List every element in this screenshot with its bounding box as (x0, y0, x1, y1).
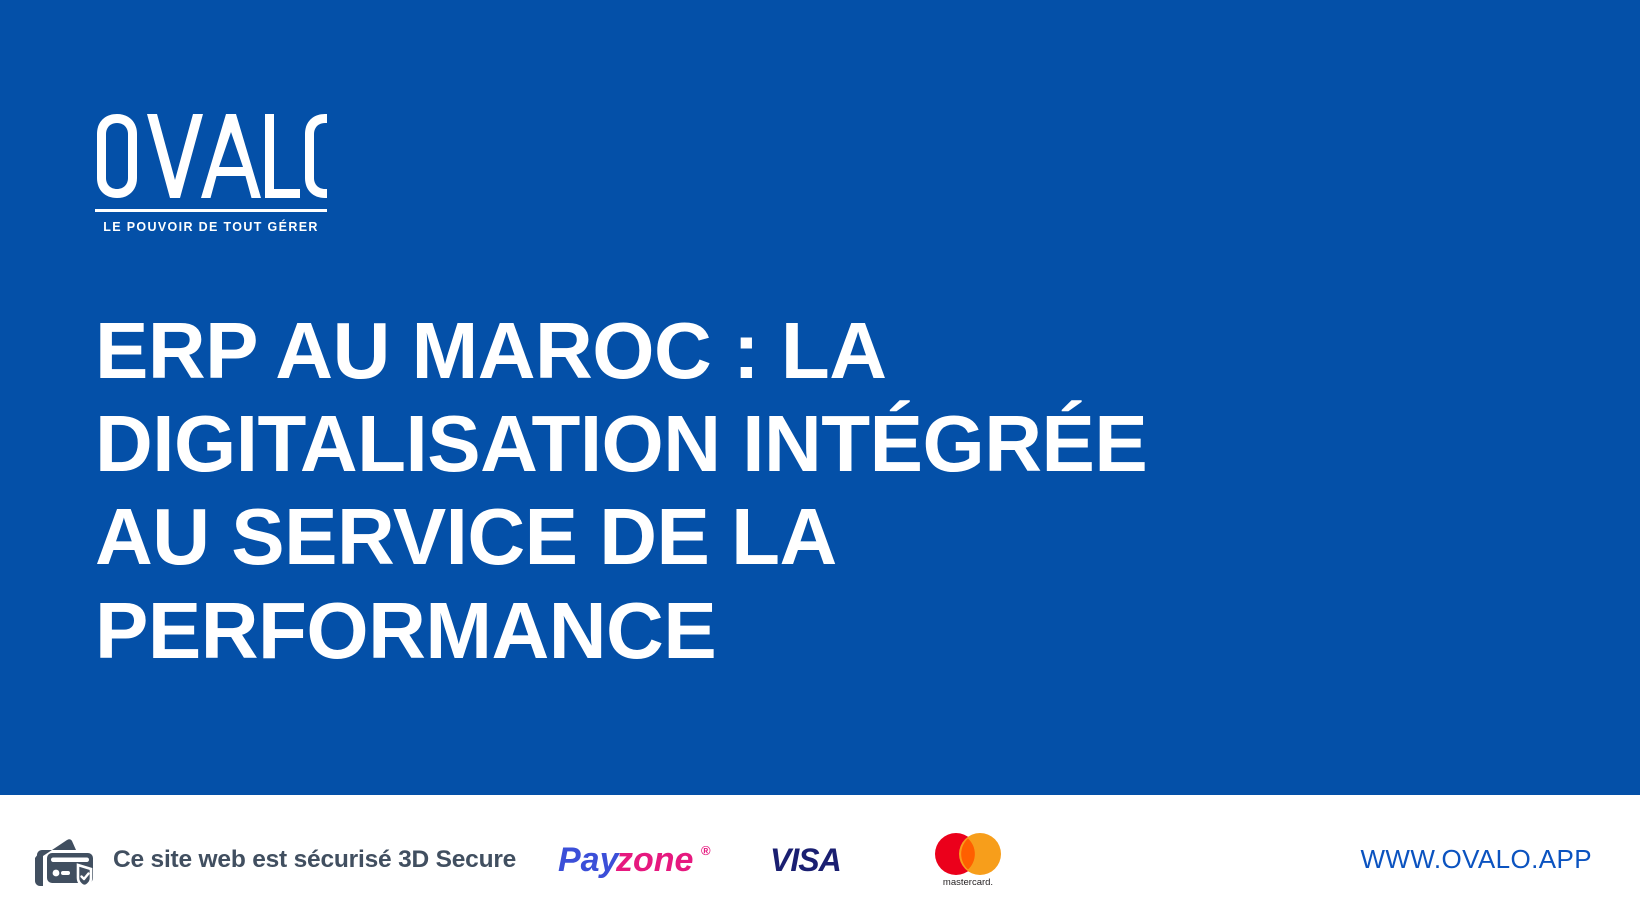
slide-root: LE POUVOIR DE TOUT GÉRER ERP AU MAROC : … (0, 0, 1640, 924)
mastercard-logo-icon: mastercard. (926, 832, 1010, 888)
svg-text:®: ® (701, 843, 711, 858)
footer-bar: Ce site web est sécurisé 3D Secure Pay z… (0, 795, 1640, 924)
svg-text:VISA: VISA (770, 843, 841, 877)
credit-card-shield-icon (34, 834, 96, 886)
hero-panel: LE POUVOIR DE TOUT GÉRER ERP AU MAROC : … (0, 0, 1640, 795)
payzone-logo-icon: Pay zone ® (558, 840, 726, 880)
brand-logo: LE POUVOIR DE TOUT GÉRER (95, 112, 327, 234)
logo-divider (95, 209, 327, 212)
visa-logo-icon: VISA (770, 843, 882, 877)
ovalo-wordmark-icon (95, 112, 327, 200)
page-title-line-1: ERP AU MAROC : LA (95, 304, 1395, 397)
page-title-line-2: DIGITALISATION INTÉGRÉE (95, 397, 1395, 490)
page-title-line-3: AU SERVICE DE LA (95, 490, 1395, 583)
website-url[interactable]: WWW.OVALO.APP (1360, 844, 1592, 875)
security-notice-text: Ce site web est sécurisé 3D Secure (113, 846, 516, 874)
page-title-line-4: PERFORMANCE (95, 584, 1395, 677)
brand-tagline: LE POUVOIR DE TOUT GÉRER (95, 220, 327, 234)
svg-text:Pay: Pay (558, 841, 621, 879)
security-badge: Ce site web est sécurisé 3D Secure (34, 834, 516, 886)
svg-text:mastercard.: mastercard. (943, 877, 993, 888)
svg-text:zone: zone (615, 841, 693, 879)
page-title: ERP AU MAROC : LA DIGITALISATION INTÉGRÉ… (95, 304, 1395, 677)
payment-logos: Pay zone ® VISA mastercard. (558, 832, 1010, 888)
